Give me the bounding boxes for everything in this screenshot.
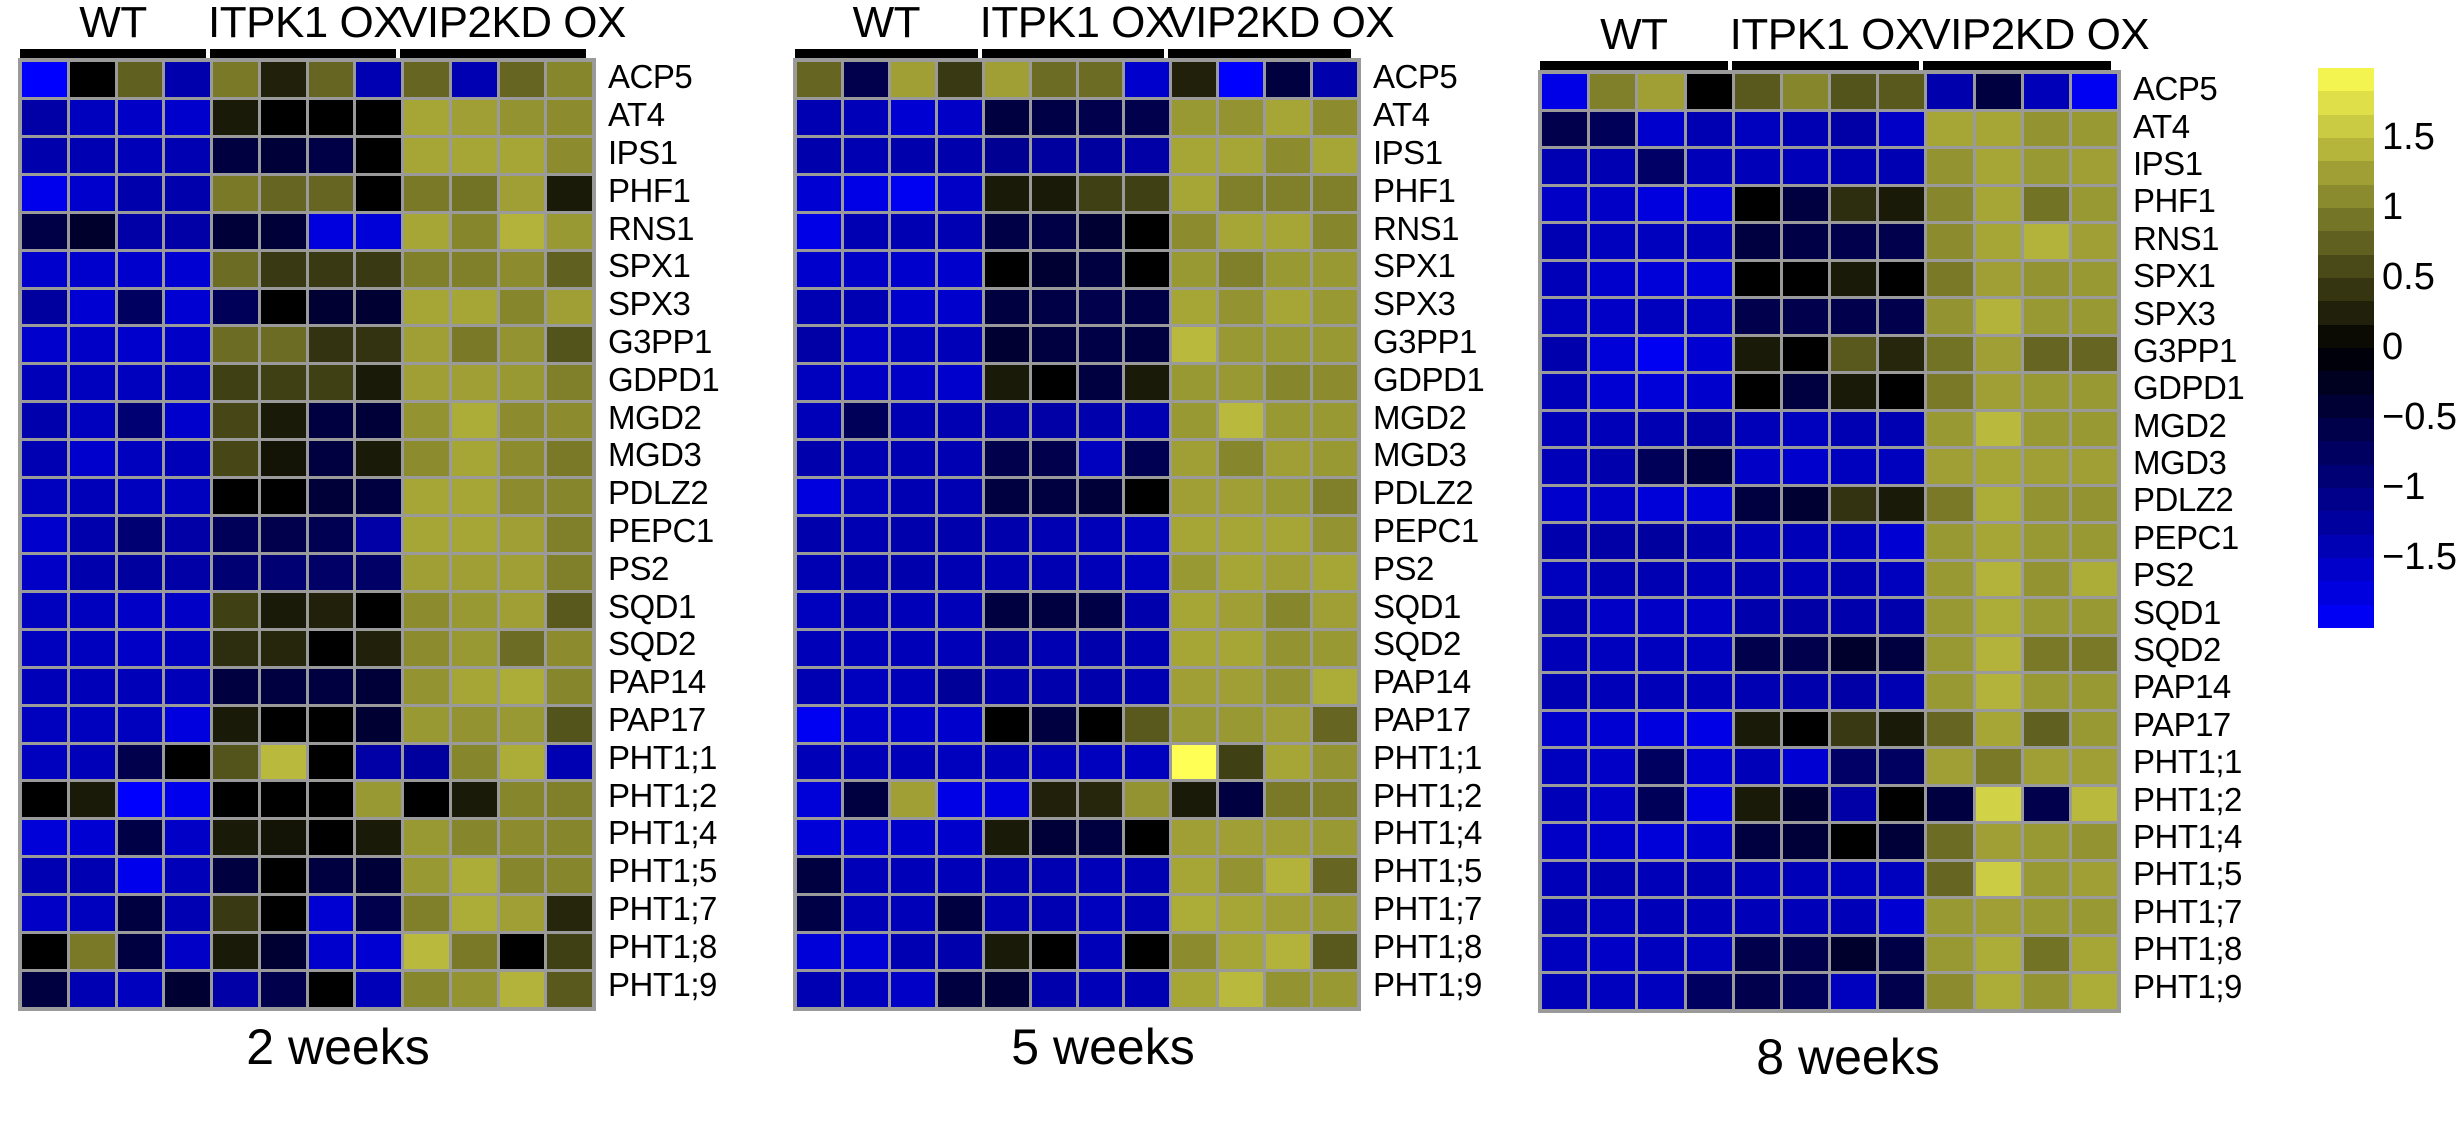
heatmap-cell	[1783, 374, 1828, 409]
heatmap-cell	[1879, 299, 1924, 334]
heatmap-cell	[404, 669, 449, 704]
heatmap-cell	[1219, 290, 1263, 325]
heatmap-cell	[844, 745, 888, 780]
heatmap-cell	[404, 745, 449, 780]
heatmap-cell	[452, 745, 497, 780]
heatmap-cell	[1687, 224, 1732, 259]
heatmap-cell	[1976, 562, 2021, 597]
colorbar-segment	[2318, 418, 2374, 441]
heatmap-cell	[165, 365, 210, 400]
heatmap-cell	[1927, 637, 1972, 672]
heatmap-cell	[22, 327, 67, 362]
heatmap-cell	[261, 100, 306, 135]
heatmap-cell	[1172, 290, 1216, 325]
heatmap-cell	[2072, 337, 2117, 372]
heatmap-cell	[891, 403, 935, 438]
heatmap-cell	[1927, 937, 1972, 972]
heatmap-cell	[1125, 441, 1169, 476]
heatmap-cell	[1638, 599, 1683, 634]
heatmap-cell	[213, 365, 258, 400]
gene-label: PHT1;1	[2133, 743, 2244, 780]
heatmap-cell	[1125, 100, 1169, 135]
heatmap-cell	[1783, 824, 1828, 859]
heatmap-cell	[844, 555, 888, 590]
heatmap-cell	[1266, 858, 1310, 893]
heatmap-cell	[1831, 637, 1876, 672]
heatmap-cell	[2024, 599, 2069, 634]
heatmap-cell	[1172, 972, 1216, 1007]
heatmap-cell	[1831, 299, 1876, 334]
heatmap-cell	[844, 176, 888, 211]
heatmap-cell	[118, 517, 163, 552]
heatmap-cell	[891, 820, 935, 855]
heatmap-cell	[500, 62, 545, 97]
group-label: VIP2KD OX	[1166, 0, 1353, 46]
heatmap-cell	[309, 896, 354, 931]
heatmap-cell	[118, 631, 163, 666]
heatmap-cell	[1735, 112, 1780, 147]
heatmap-cell	[938, 441, 982, 476]
heatmap-cell	[165, 896, 210, 931]
heatmap-cell	[547, 252, 592, 287]
gene-label: PHT1;4	[1373, 814, 1484, 852]
heatmap-cell	[1687, 599, 1732, 634]
heatmap-cell	[547, 707, 592, 742]
heatmap-cell	[1783, 974, 1828, 1009]
heatmap-cell	[1735, 449, 1780, 484]
gene-label: PAP14	[608, 663, 719, 701]
heatmap-cell	[1879, 487, 1924, 522]
heatmap-cell	[938, 479, 982, 514]
heatmap-cell	[1032, 517, 1076, 552]
heatmap-cell	[70, 479, 115, 514]
heatmap-cell	[1783, 112, 1828, 147]
heatmap-cell	[165, 782, 210, 817]
group-header-vip2kd-ox: VIP2KD OX	[1166, 0, 1353, 58]
heatmap-cell	[1879, 787, 1924, 822]
gene-label: PHT1;5	[608, 852, 719, 890]
colorbar-segment	[2318, 348, 2374, 371]
heatmap-cell	[547, 62, 592, 97]
heatmap-cell	[1032, 100, 1076, 135]
heatmap-cell	[404, 252, 449, 287]
heatmap-cell	[70, 820, 115, 855]
heatmap-cell	[844, 62, 888, 97]
heatmap-cell	[2024, 187, 2069, 222]
heatmap-cell	[844, 934, 888, 969]
heatmap-cell	[2072, 599, 2117, 634]
colorbar-tick: −0.5	[2382, 398, 2457, 436]
heatmap-cell	[1831, 974, 1876, 1009]
heatmap-cell	[2024, 112, 2069, 147]
heatmap-cell	[22, 972, 67, 1007]
heatmap-cell	[1590, 637, 1635, 672]
heatmap-cell	[1542, 487, 1587, 522]
heatmap-cell	[118, 403, 163, 438]
heatmap-cell	[213, 820, 258, 855]
heatmap-cell	[356, 62, 401, 97]
heatmap-cell	[1927, 899, 1972, 934]
heatmap-cell	[1266, 290, 1310, 325]
heatmap-cell	[309, 479, 354, 514]
heatmap-cell	[1927, 824, 1972, 859]
heatmap-cell	[404, 62, 449, 97]
gene-label: PDLZ2	[1373, 474, 1484, 512]
heatmap-cell	[118, 858, 163, 893]
colorbar-segment	[2318, 115, 2374, 138]
heatmap-cell	[118, 593, 163, 628]
heatmap-cell	[1032, 327, 1076, 362]
heatmap-cell	[547, 631, 592, 666]
heatmap-cell	[1313, 327, 1357, 362]
heatmap-cell	[1125, 820, 1169, 855]
heatmap-cell	[22, 517, 67, 552]
heatmap-cell	[309, 782, 354, 817]
heatmap-cell	[22, 858, 67, 893]
colorbar-segment	[2318, 581, 2374, 604]
heatmap-cell	[547, 555, 592, 590]
heatmap-cell	[2024, 262, 2069, 297]
gene-label: GDPD1	[2133, 369, 2244, 406]
heatmap-cell	[213, 517, 258, 552]
heatmap-cell	[1542, 187, 1587, 222]
heatmap-cell	[118, 669, 163, 704]
heatmap-cell	[1125, 327, 1169, 362]
heatmap-cell	[1542, 562, 1587, 597]
heatmap-cell	[985, 782, 1029, 817]
heatmap-cell	[1590, 374, 1635, 409]
heatmap-cell	[2024, 74, 2069, 109]
heatmap-cell	[1927, 449, 1972, 484]
heatmap-cell	[1687, 524, 1732, 559]
heatmap-cell	[118, 214, 163, 249]
heatmap-cell	[1032, 707, 1076, 742]
panel-8-weeks: WTITPK1 OXVIP2KD OX ACP5AT4IPS1PHF1RNS1S…	[1538, 12, 2318, 1013]
heatmap-cell	[22, 62, 67, 97]
heatmap-cell	[1079, 517, 1123, 552]
heatmap-cell	[356, 290, 401, 325]
heatmap-cell	[1125, 403, 1169, 438]
gene-label: MGD2	[608, 398, 719, 436]
heatmap-cell	[844, 214, 888, 249]
heatmap-cell	[213, 252, 258, 287]
heatmap-cell	[22, 252, 67, 287]
heatmap-cell	[797, 403, 841, 438]
heatmap-cell	[1032, 138, 1076, 173]
heatmap-cell	[1266, 138, 1310, 173]
heatmap-cell	[1831, 937, 1876, 972]
heatmap-cell	[1783, 637, 1828, 672]
heatmap-cell	[1125, 934, 1169, 969]
heatmap-cell	[1879, 824, 1924, 859]
heatmap-cell	[1125, 858, 1169, 893]
heatmap-cell	[356, 479, 401, 514]
heatmap-cell	[891, 100, 935, 135]
heatmap-cell	[1172, 176, 1216, 211]
heatmap-cell	[2072, 187, 2117, 222]
heatmap-cell	[1313, 138, 1357, 173]
heatmap-cell	[356, 517, 401, 552]
gene-label: PHT1;8	[1373, 927, 1484, 965]
heatmap-cell	[309, 555, 354, 590]
heatmap-cell	[1032, 593, 1076, 628]
heatmap-cell	[2024, 974, 2069, 1009]
heatmap-cell	[22, 593, 67, 628]
heatmap-cell	[70, 327, 115, 362]
heatmap-cell	[452, 555, 497, 590]
heatmap-cell	[1831, 862, 1876, 897]
heatmap-cell	[1687, 112, 1732, 147]
heatmap-cell	[844, 403, 888, 438]
gene-label: GDPD1	[1373, 360, 1484, 398]
group-label: WT	[793, 0, 980, 46]
heatmap-cell	[213, 100, 258, 135]
gene-label: GDPD1	[608, 360, 719, 398]
heatmap-cell	[452, 62, 497, 97]
heatmap-cell	[1266, 631, 1310, 666]
heatmap-cell	[1735, 224, 1780, 259]
heatmap-cell	[547, 593, 592, 628]
heatmap-cell	[165, 138, 210, 173]
heatmap-cell	[1542, 149, 1587, 184]
heatmap-cell	[22, 138, 67, 173]
heatmap-cell	[891, 365, 935, 400]
heatmap-cell	[1219, 707, 1263, 742]
colorbar-segment	[2318, 231, 2374, 254]
gene-label: ACP5	[2133, 70, 2244, 107]
heatmap-cell	[1976, 637, 2021, 672]
heatmap-cell	[1313, 782, 1357, 817]
heatmap-cell	[938, 820, 982, 855]
heatmap-cell	[1219, 62, 1263, 97]
heatmap-cell	[70, 858, 115, 893]
heatmap-cell	[891, 896, 935, 931]
heatmap-cell	[213, 214, 258, 249]
heatmap-cell	[2024, 637, 2069, 672]
heatmap-cell	[2072, 787, 2117, 822]
heatmap-cell	[404, 782, 449, 817]
heatmap-cell	[165, 593, 210, 628]
heatmap-cell	[500, 745, 545, 780]
heatmap-cell	[22, 707, 67, 742]
heatmap-cell	[70, 896, 115, 931]
heatmap-cell	[985, 138, 1029, 173]
heatmap-cell	[1266, 820, 1310, 855]
heatmap-cell	[1542, 224, 1587, 259]
heatmap-cell	[2024, 862, 2069, 897]
heatmap-cell	[404, 290, 449, 325]
heatmap-cell	[1638, 899, 1683, 934]
heatmap-cell	[1735, 712, 1780, 747]
colorbar-segment	[2318, 558, 2374, 581]
heatmap-cell	[500, 479, 545, 514]
heatmap-cell	[309, 327, 354, 362]
heatmap-cell	[547, 138, 592, 173]
heatmap-cell	[452, 441, 497, 476]
heatmap-cell	[500, 669, 545, 704]
heatmap-cell	[1125, 290, 1169, 325]
colorbar-gradient	[2318, 68, 2374, 628]
heatmap-cell	[1542, 299, 1587, 334]
heatmap-cell	[547, 365, 592, 400]
gene-label: SQD1	[608, 587, 719, 625]
heatmap-cell	[1219, 365, 1263, 400]
heatmap-cell	[1687, 824, 1732, 859]
heatmap-cell	[797, 290, 841, 325]
heatmap-cell	[1735, 337, 1780, 372]
heatmap-figure: WTITPK1 OXVIP2KD OX ACP5AT4IPS1PHF1RNS1S…	[0, 0, 2458, 1128]
heatmap-cell	[1032, 441, 1076, 476]
heatmap-cell	[938, 631, 982, 666]
heatmap-cell	[1927, 562, 1972, 597]
panel-1-heatmap-grid	[793, 58, 1361, 1011]
heatmap-cell	[797, 593, 841, 628]
heatmap-cell	[2024, 149, 2069, 184]
heatmap-cell	[2072, 299, 2117, 334]
gene-label: SPX1	[1373, 247, 1484, 285]
heatmap-cell	[985, 365, 1029, 400]
heatmap-cell	[404, 517, 449, 552]
heatmap-cell	[309, 441, 354, 476]
heatmap-cell	[500, 972, 545, 1007]
gene-label: PHT1;7	[608, 890, 719, 928]
heatmap-cell	[797, 858, 841, 893]
heatmap-cell	[1542, 262, 1587, 297]
heatmap-cell	[261, 403, 306, 438]
heatmap-cell	[1266, 176, 1310, 211]
heatmap-cell	[213, 176, 258, 211]
heatmap-cell	[891, 441, 935, 476]
heatmap-cell	[118, 972, 163, 1007]
heatmap-cell	[2024, 299, 2069, 334]
heatmap-cell	[404, 100, 449, 135]
heatmap-cell	[1542, 412, 1587, 447]
heatmap-cell	[1542, 599, 1587, 634]
heatmap-cell	[1831, 74, 1876, 109]
heatmap-cell	[356, 820, 401, 855]
heatmap-cell	[1032, 62, 1076, 97]
heatmap-cell	[1638, 787, 1683, 822]
heatmap-cell	[500, 593, 545, 628]
colorbar-segment	[2318, 395, 2374, 418]
heatmap-cell	[356, 327, 401, 362]
heatmap-cell	[452, 403, 497, 438]
heatmap-cell	[1542, 637, 1587, 672]
heatmap-cell	[1638, 74, 1683, 109]
heatmap-cell	[797, 745, 841, 780]
heatmap-cell	[500, 896, 545, 931]
gene-label: PHT1;5	[2133, 855, 2244, 892]
panel-1-time-label: 5 weeks	[793, 1018, 1413, 1076]
heatmap-cell	[1219, 327, 1263, 362]
heatmap-cell	[1783, 674, 1828, 709]
heatmap-cell	[1219, 441, 1263, 476]
heatmap-cell	[309, 138, 354, 173]
heatmap-cell	[1735, 599, 1780, 634]
heatmap-cell	[1125, 972, 1169, 1007]
group-label: ITPK1 OX	[208, 0, 398, 46]
heatmap-cell	[1927, 487, 1972, 522]
heatmap-cell	[1172, 365, 1216, 400]
heatmap-cell	[1783, 787, 1828, 822]
heatmap-cell	[165, 252, 210, 287]
heatmap-cell	[261, 517, 306, 552]
heatmap-cell	[1032, 631, 1076, 666]
heatmap-cell	[1590, 974, 1635, 1009]
heatmap-cell	[1032, 403, 1076, 438]
heatmap-cell	[1735, 937, 1780, 972]
heatmap-cell	[1172, 631, 1216, 666]
heatmap-cell	[356, 782, 401, 817]
colorbar-segment	[2318, 325, 2374, 348]
heatmap-cell	[2072, 899, 2117, 934]
heatmap-cell	[1172, 252, 1216, 287]
heatmap-cell	[1879, 712, 1924, 747]
heatmap-cell	[1266, 479, 1310, 514]
heatmap-cell	[2072, 374, 2117, 409]
heatmap-cell	[1879, 449, 1924, 484]
heatmap-cell	[938, 896, 982, 931]
heatmap-cell	[938, 176, 982, 211]
colorbar-segment	[2318, 511, 2374, 534]
heatmap-cell	[1638, 974, 1683, 1009]
heatmap-cell	[1735, 562, 1780, 597]
heatmap-cell	[1313, 820, 1357, 855]
heatmap-cell	[1783, 562, 1828, 597]
heatmap-cell	[1313, 631, 1357, 666]
gene-label: PS2	[2133, 556, 2244, 593]
heatmap-cell	[2024, 562, 2069, 597]
gene-label: PHT1;4	[2133, 818, 2244, 855]
gene-label: ACP5	[1373, 58, 1484, 96]
heatmap-cell	[1313, 858, 1357, 893]
heatmap-cell	[1638, 112, 1683, 147]
heatmap-cell	[797, 327, 841, 362]
heatmap-cell	[356, 252, 401, 287]
heatmap-cell	[356, 593, 401, 628]
heatmap-cell	[797, 214, 841, 249]
heatmap-cell	[356, 100, 401, 135]
heatmap-cell	[70, 441, 115, 476]
heatmap-cell	[547, 214, 592, 249]
heatmap-cell	[1590, 862, 1635, 897]
gene-label: PDLZ2	[608, 474, 719, 512]
heatmap-cell	[1976, 449, 2021, 484]
heatmap-cell	[1079, 100, 1123, 135]
heatmap-cell	[938, 403, 982, 438]
heatmap-cell	[356, 138, 401, 173]
heatmap-cell	[1687, 299, 1732, 334]
panel-1-gene-labels: ACP5AT4IPS1PHF1RNS1SPX1SPX3G3PP1GDPD1MGD…	[1373, 58, 1484, 1003]
heatmap-cell	[797, 441, 841, 476]
heatmap-cell	[70, 214, 115, 249]
heatmap-cell	[1590, 487, 1635, 522]
heatmap-cell	[500, 138, 545, 173]
heatmap-cell	[1590, 712, 1635, 747]
heatmap-cell	[844, 365, 888, 400]
heatmap-cell	[1831, 112, 1876, 147]
heatmap-cell	[1927, 74, 1972, 109]
heatmap-cell	[500, 290, 545, 325]
heatmap-cell	[309, 858, 354, 893]
heatmap-cell	[2072, 224, 2117, 259]
colorbar-segment	[2318, 371, 2374, 394]
heatmap-cell	[1266, 403, 1310, 438]
heatmap-cell	[1079, 176, 1123, 211]
heatmap-cell	[1125, 138, 1169, 173]
heatmap-cell	[1879, 674, 1924, 709]
heatmap-cell	[1879, 637, 1924, 672]
